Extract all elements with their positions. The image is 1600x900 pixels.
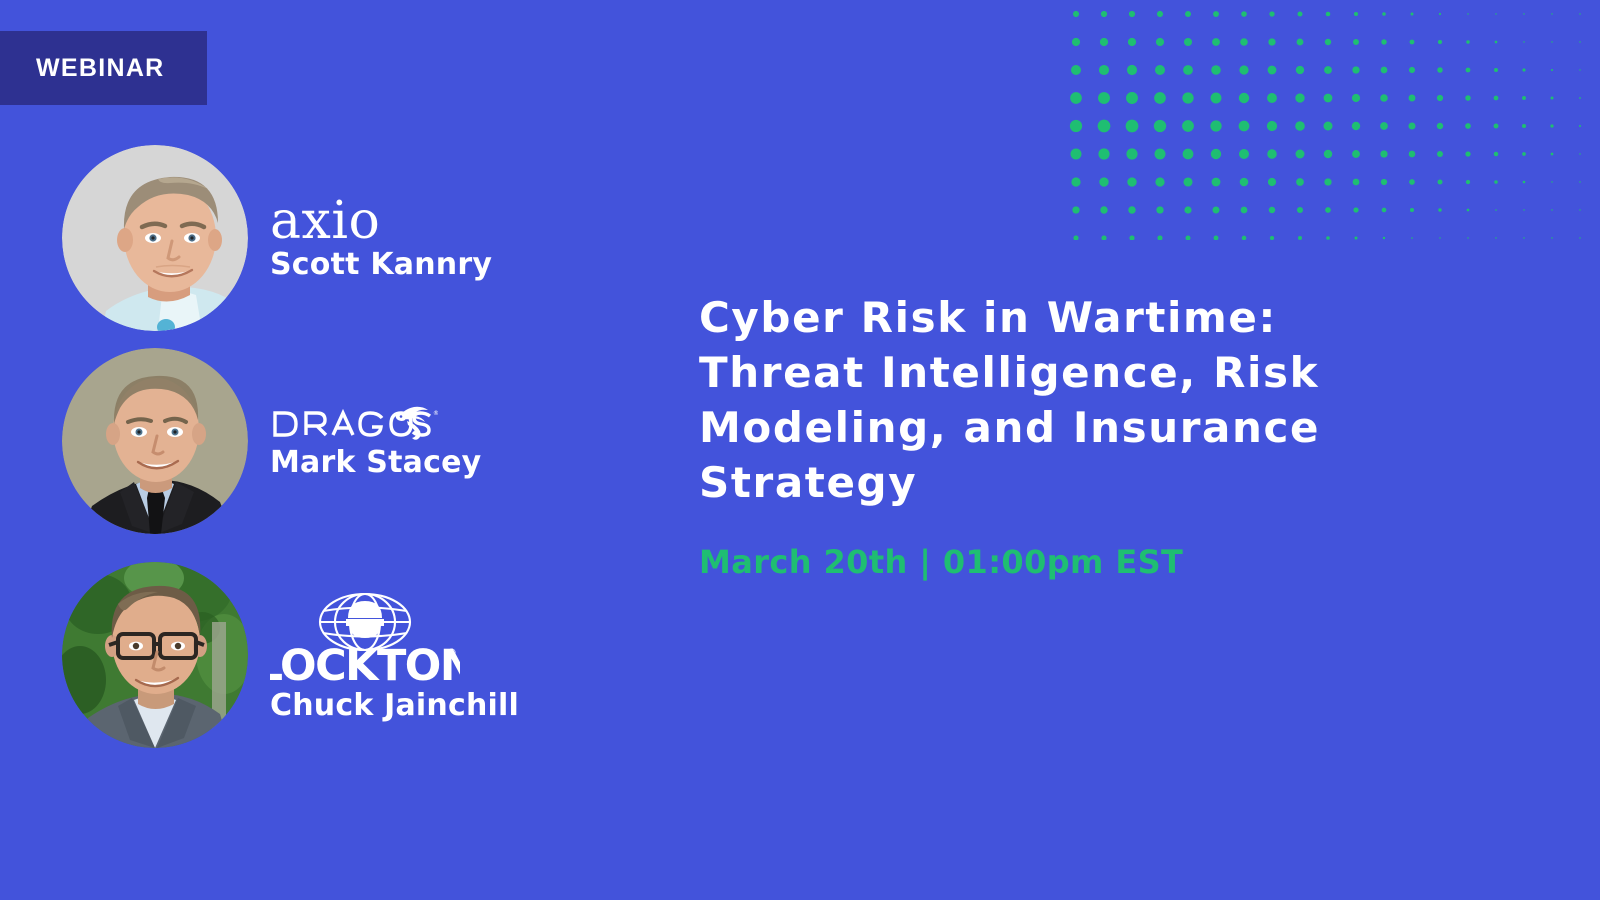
lockton-logo: LOCKTON ® [270,588,460,688]
speaker-meta-scott-kannry: axio Scott Kannry [270,195,492,282]
svg-text:LOCKTON: LOCKTON [270,641,460,688]
webinar-datetime: March 20th | 01:00pm EST [699,543,1359,581]
webinar-content: Cyber Risk in Wartime: Threat Intelligen… [699,290,1359,581]
axio-logo-wordmark: axio [270,195,380,247]
webinar-promo-graphic: WEBINAR [0,0,1600,900]
svg-text:®: ® [446,646,457,659]
avatar-scott-kannry [62,145,248,331]
speaker-item-mark-stacey: ® Mark Stacey [62,348,481,534]
dragos-logo: ® [270,403,438,445]
speaker-meta-chuck-jainchill: LOCKTON ® Chuck Jainchill [270,588,519,723]
speaker-name-scott-kannry: Scott Kannry [270,247,492,282]
page-title: Cyber Risk in Wartime: Threat Intelligen… [699,290,1359,510]
speaker-item-chuck-jainchill: LOCKTON ® Chuck Jainchill [62,562,519,748]
speaker-meta-mark-stacey: ® Mark Stacey [270,403,481,480]
dragos-logo-mark: ® [270,403,438,445]
speaker-name-chuck-jainchill: Chuck Jainchill [270,688,519,723]
lockton-logo-mark: LOCKTON ® [270,588,460,688]
avatar-chuck-jainchill [62,562,248,748]
speaker-item-scott-kannry: axio Scott Kannry [62,145,492,331]
webinar-badge: WEBINAR [0,31,207,105]
webinar-badge-label: WEBINAR [36,54,165,83]
speaker-name-mark-stacey: Mark Stacey [270,445,481,480]
avatar-mark-stacey [62,348,248,534]
svg-text:®: ® [433,410,438,417]
halftone-dot-grid-icon [1060,0,1600,240]
axio-logo: axio [270,195,380,247]
